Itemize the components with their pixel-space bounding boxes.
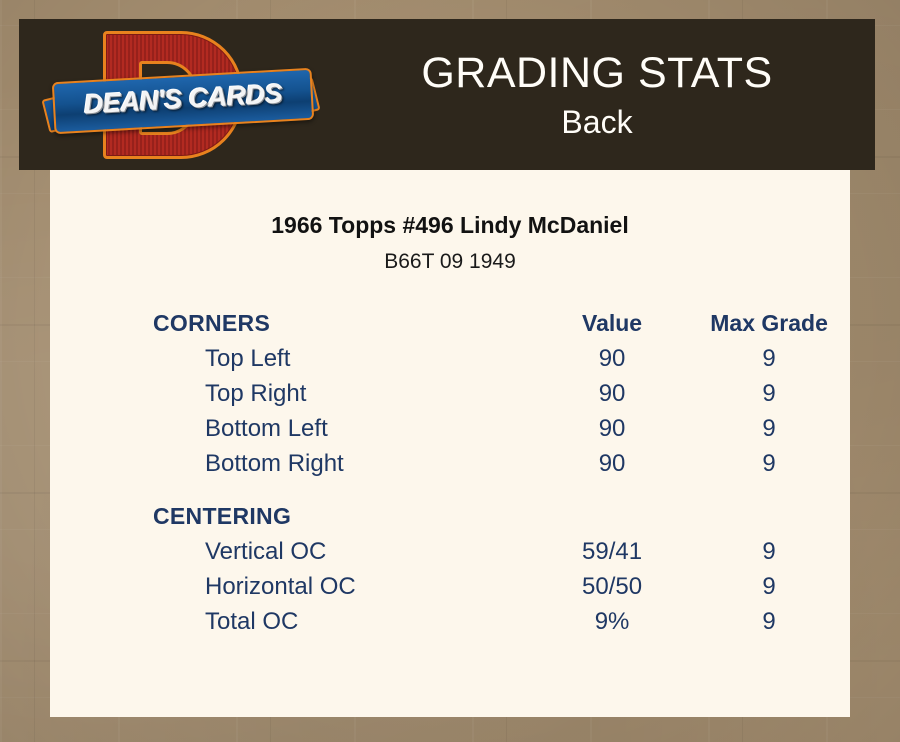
row-value: 9% — [536, 604, 688, 639]
table-row: Total OC 9% 9 — [153, 604, 850, 639]
page-title: GRADING STATS — [421, 48, 772, 98]
table-row: Top Left 90 9 — [153, 341, 850, 376]
table-row: Bottom Right 90 9 — [153, 446, 850, 481]
row-value: 90 — [536, 376, 688, 411]
row-max-grade: 9 — [688, 411, 850, 446]
page-subtitle: Back — [561, 102, 632, 142]
section-max-blank — [688, 499, 850, 534]
row-max-grade: 9 — [688, 376, 850, 411]
row-max-grade: 9 — [688, 569, 850, 604]
row-max-grade: 9 — [688, 604, 850, 639]
header-title-group: GRADING STATS Back — [319, 19, 875, 170]
table-row: Horizontal OC 50/50 9 — [153, 569, 850, 604]
row-label: Top Left — [153, 341, 536, 376]
row-max-grade: 9 — [688, 446, 850, 481]
row-value: 90 — [536, 341, 688, 376]
table-header-row: CORNERS Value Max Grade — [153, 306, 850, 341]
row-label: Vertical OC — [153, 534, 536, 569]
section-value-blank — [536, 499, 688, 534]
row-label: Bottom Right — [153, 446, 536, 481]
row-label: Total OC — [153, 604, 536, 639]
card-subtitle: B66T 09 1949 — [50, 248, 850, 276]
row-value: 50/50 — [536, 569, 688, 604]
row-value: 59/41 — [536, 534, 688, 569]
column-header-max-grade: Max Grade — [688, 306, 850, 341]
card-title: 1966 Topps #496 Lindy McDaniel — [50, 210, 850, 240]
table-row: Vertical OC 59/41 9 — [153, 534, 850, 569]
section-spacer — [153, 481, 850, 499]
header-bar: DEAN'S CARDS GRADING STATS Back — [19, 19, 875, 170]
row-value: 90 — [536, 411, 688, 446]
grading-stats: CORNERS Value Max Grade Top Left 90 9 To… — [50, 306, 850, 639]
deans-cards-logo[interactable]: DEAN'S CARDS — [45, 27, 317, 163]
row-max-grade: 9 — [688, 341, 850, 376]
section-title-corners: CORNERS — [153, 306, 536, 341]
row-label: Top Right — [153, 376, 536, 411]
table-row: Top Right 90 9 — [153, 376, 850, 411]
row-label: Bottom Left — [153, 411, 536, 446]
stats-table: CORNERS Value Max Grade Top Left 90 9 To… — [153, 306, 850, 639]
row-max-grade: 9 — [688, 534, 850, 569]
row-label: Horizontal OC — [153, 569, 536, 604]
section-header-centering: CENTERING — [153, 499, 850, 534]
row-value: 90 — [536, 446, 688, 481]
section-title-centering: CENTERING — [153, 499, 536, 534]
column-header-value: Value — [536, 306, 688, 341]
table-row: Bottom Left 90 9 — [153, 411, 850, 446]
content-panel: 1966 Topps #496 Lindy McDaniel B66T 09 1… — [50, 170, 850, 717]
